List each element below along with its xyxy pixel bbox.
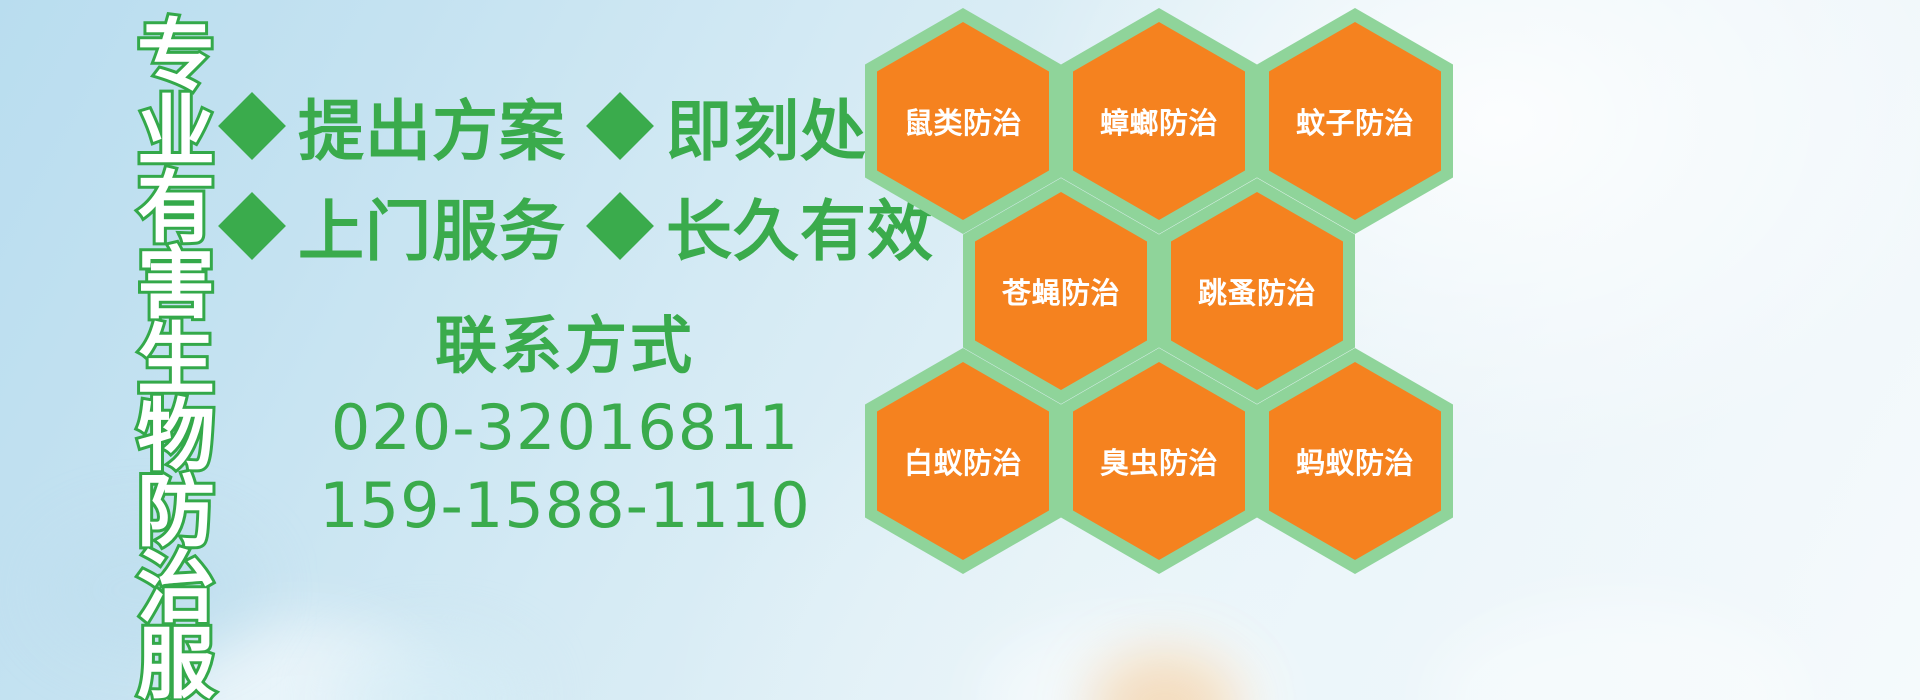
diamond-bullet-icon	[586, 192, 654, 260]
diamond-bullet-icon	[218, 192, 286, 260]
service-label: 蚊子防治	[1296, 100, 1414, 142]
phone-landline[interactable]: 020-32016811	[300, 389, 830, 467]
diamond-bullet-icon	[218, 92, 286, 160]
service-label: 蟑螂防治	[1100, 100, 1218, 142]
hex-inner: 蚊子防治	[1269, 22, 1441, 220]
hex-inner: 蟑螂防治	[1073, 22, 1245, 220]
feature-label: 提出方案	[298, 78, 566, 174]
service-label: 鼠类防治	[904, 100, 1022, 142]
vertical-slogan: 专业有害生物防治服务	[112, 14, 208, 700]
hex-inner: 白蚁防治	[877, 362, 1049, 560]
contact-title: 联系方式	[300, 310, 830, 381]
hex-inner: 苍蝇防治	[975, 192, 1147, 390]
hex-inner: 跳蚤防治	[1171, 192, 1343, 390]
pest-control-banner: 专业有害生物防治服务 提出方案 即刻处理 上门服务 长久有效 联系方式 020-…	[0, 0, 1920, 700]
hex-inner: 蚂蚁防治	[1269, 362, 1441, 560]
hex-inner: 臭虫防治	[1073, 362, 1245, 560]
bokeh-blob	[1430, 600, 1810, 700]
bokeh-blob	[330, 638, 530, 700]
feature-label: 上门服务	[298, 178, 566, 274]
contact-block: 联系方式 020-32016811 159-1588-1110	[300, 310, 830, 544]
service-label: 臭虫防治	[1100, 440, 1218, 482]
service-honeycomb: 鼠类防治 蟑螂防治 蚊子防治 苍蝇防治 跳蚤防治 白蚁防治	[855, 0, 1475, 700]
feature-row: 上门服务 长久有效	[228, 176, 868, 276]
service-label: 跳蚤防治	[1198, 270, 1316, 312]
phone-mobile[interactable]: 159-1588-1110	[300, 467, 830, 545]
hex-inner: 鼠类防治	[877, 22, 1049, 220]
service-label: 蚂蚁防治	[1296, 440, 1414, 482]
feature-list: 提出方案 即刻处理 上门服务 长久有效	[228, 76, 868, 276]
service-label: 苍蝇防治	[1002, 270, 1120, 312]
diamond-bullet-icon	[586, 92, 654, 160]
feature-row: 提出方案 即刻处理	[228, 76, 868, 176]
service-label: 白蚁防治	[904, 440, 1022, 482]
